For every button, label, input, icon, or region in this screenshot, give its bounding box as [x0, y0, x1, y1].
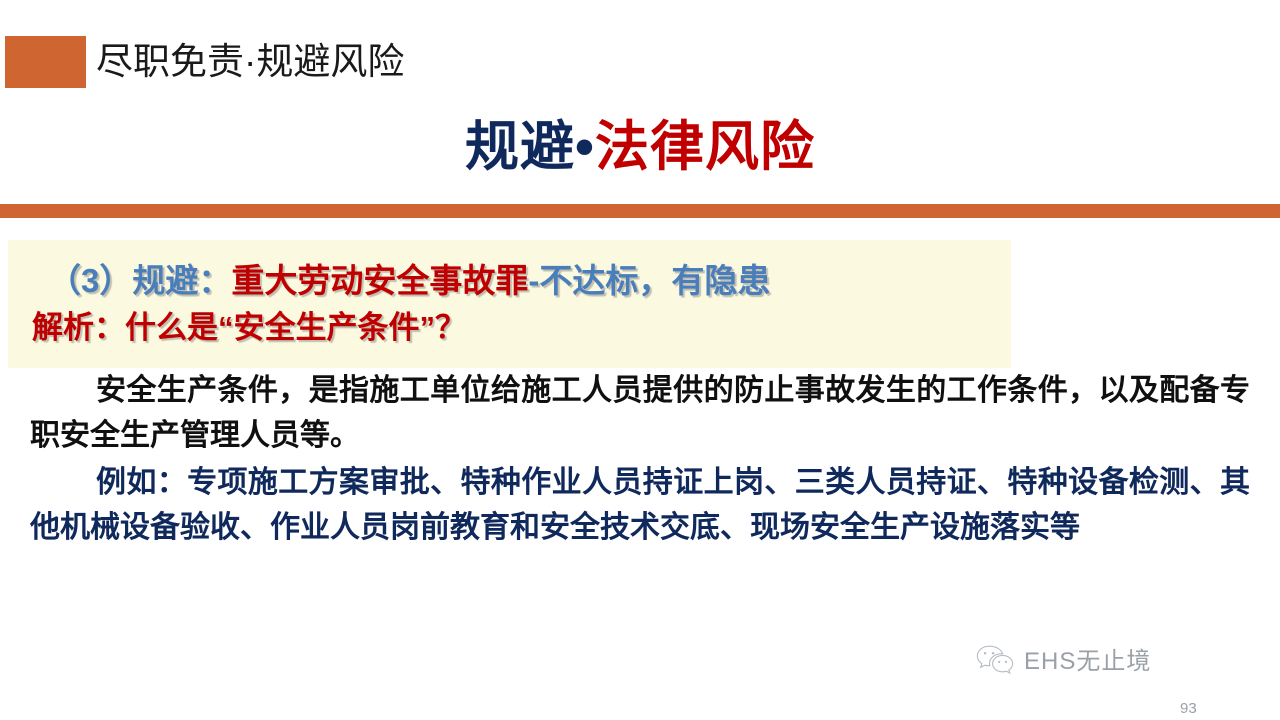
page-title-part-navy: 规避: [465, 117, 575, 177]
body-paragraph-definition: 安全生产条件，是指施工单位给施工人员提供的防止事故发生的工作条件，以及配备专职安…: [30, 368, 1250, 458]
highlight-crime-name: 重大劳动安全事故罪: [231, 262, 528, 299]
highlight-suffix: -不达标，有隐患: [528, 262, 770, 299]
header-accent-marker: [5, 36, 86, 88]
page-title-separator: •: [575, 117, 595, 177]
body-content: 安全生产条件，是指施工单位给施工人员提供的防止事故发生的工作条件，以及配备专职安…: [30, 368, 1250, 552]
highlight-heading-line-2: 解析：什么是“安全生产条件”？: [32, 306, 466, 350]
page-title-part-red: 法律风险: [595, 117, 815, 177]
highlight-heading-line-1: （3）规避：重大劳动安全事故罪-不达标，有隐患: [48, 258, 770, 304]
section-divider: [0, 204, 1280, 218]
watermark: EHS无止境: [975, 643, 1151, 680]
header-title: 尽职免责·规避风险: [96, 38, 404, 86]
highlight-prefix: （3）规避：: [48, 262, 231, 299]
slide-canvas: 尽职免责·规避风险 规避•法律风险 （3）规避：重大劳动安全事故罪-不达标，有隐…: [0, 0, 1280, 720]
body-paragraph-examples: 例如：专项施工方案审批、特种作业人员持证上岗、三类人员持证、特种设备检测、其他机…: [30, 460, 1250, 550]
wechat-icon: [975, 643, 1015, 680]
page-title: 规避•法律风险: [0, 110, 1280, 184]
watermark-label: EHS无止境: [1024, 648, 1151, 676]
page-number: 93: [1180, 700, 1197, 717]
